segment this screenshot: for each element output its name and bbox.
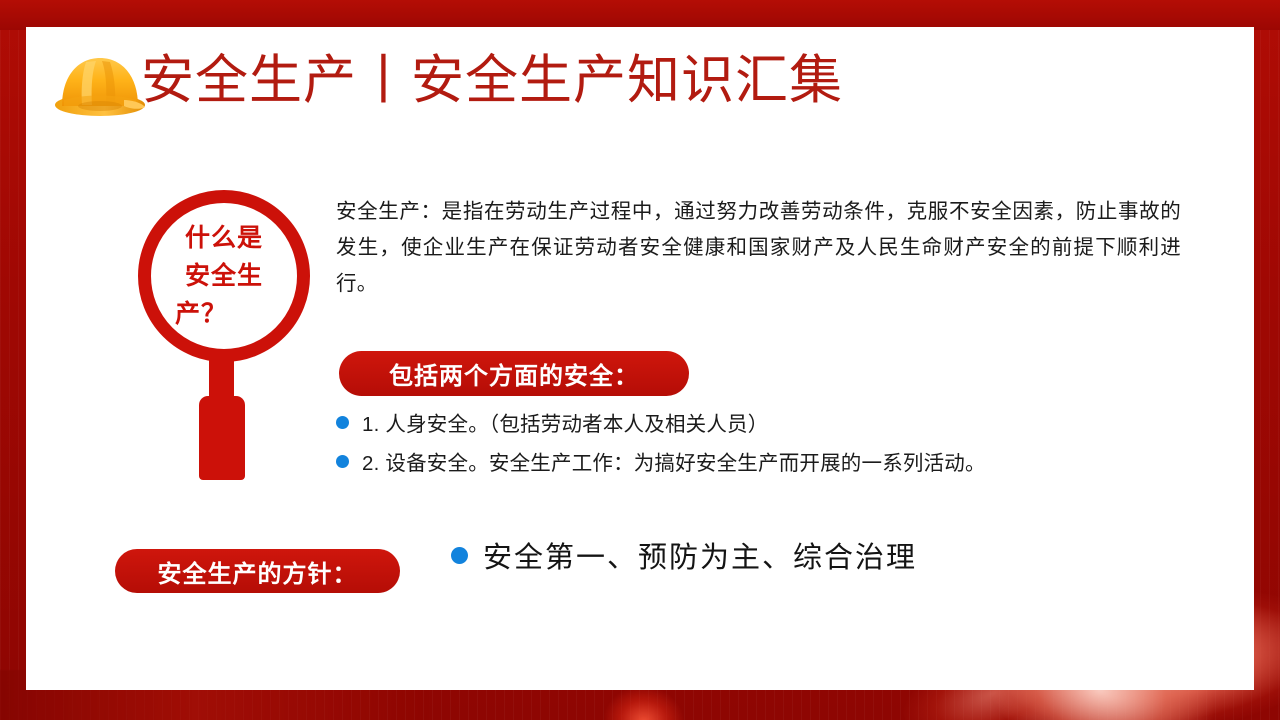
list-item-label: 2. 设备安全。安全生产工作：为搞好安全生产而开展的一系列活动。: [362, 448, 986, 480]
magnifier-handle: [199, 396, 245, 480]
definition-paragraph: 安全生产：是指在劳动生产过程中，通过努力改善劳动条件，克服不安全因素，防止事故的…: [336, 194, 1181, 302]
policy-badge: 安全生产的方针：: [115, 549, 400, 593]
aspects-badge: 包括两个方面的安全：: [339, 351, 689, 396]
bullet-dot-icon: [336, 416, 349, 429]
content-card: 安全生产丨安全生产知识汇集 什么是 安全生 产？ 安全生产：是指在劳动生产过程中…: [26, 27, 1254, 690]
safety-helmet-icon: [52, 50, 148, 120]
list-item-label: 1. 人身安全。（包括劳动者本人及相关人员）: [362, 409, 768, 441]
list-item: 1. 人身安全。（包括劳动者本人及相关人员）: [336, 409, 1166, 441]
magnifier-icon: 什么是 安全生 产？: [116, 190, 312, 490]
bullet-dot-icon: [336, 455, 349, 468]
magnifier-lens: 什么是 安全生 产？: [138, 190, 310, 362]
policy-statement-label: 安全第一、预防为主、综合治理: [483, 537, 917, 579]
page-title: 安全生产丨安全生产知识汇集: [141, 49, 843, 113]
background-top-band: [0, 0, 1280, 30]
list-item: 2. 设备安全。安全生产工作：为搞好安全生产而开展的一系列活动。: [336, 448, 1166, 480]
slide-header: 安全生产丨安全生产知识汇集: [26, 27, 1254, 142]
policy-statement: 安全第一、预防为主、综合治理: [451, 537, 917, 579]
aspects-list: 1. 人身安全。（包括劳动者本人及相关人员） 2. 设备安全。安全生产工作：为搞…: [336, 409, 1166, 487]
slide-background: 安全生产丨安全生产知识汇集 什么是 安全生 产？ 安全生产：是指在劳动生产过程中…: [0, 0, 1280, 720]
bullet-dot-icon: [451, 547, 468, 564]
magnifier-line-2: 安全生: [185, 257, 263, 295]
magnifier-neck: [209, 352, 234, 400]
magnifier-line-1: 什么是: [185, 219, 263, 257]
magnifier-line-3: 产？: [175, 295, 227, 333]
